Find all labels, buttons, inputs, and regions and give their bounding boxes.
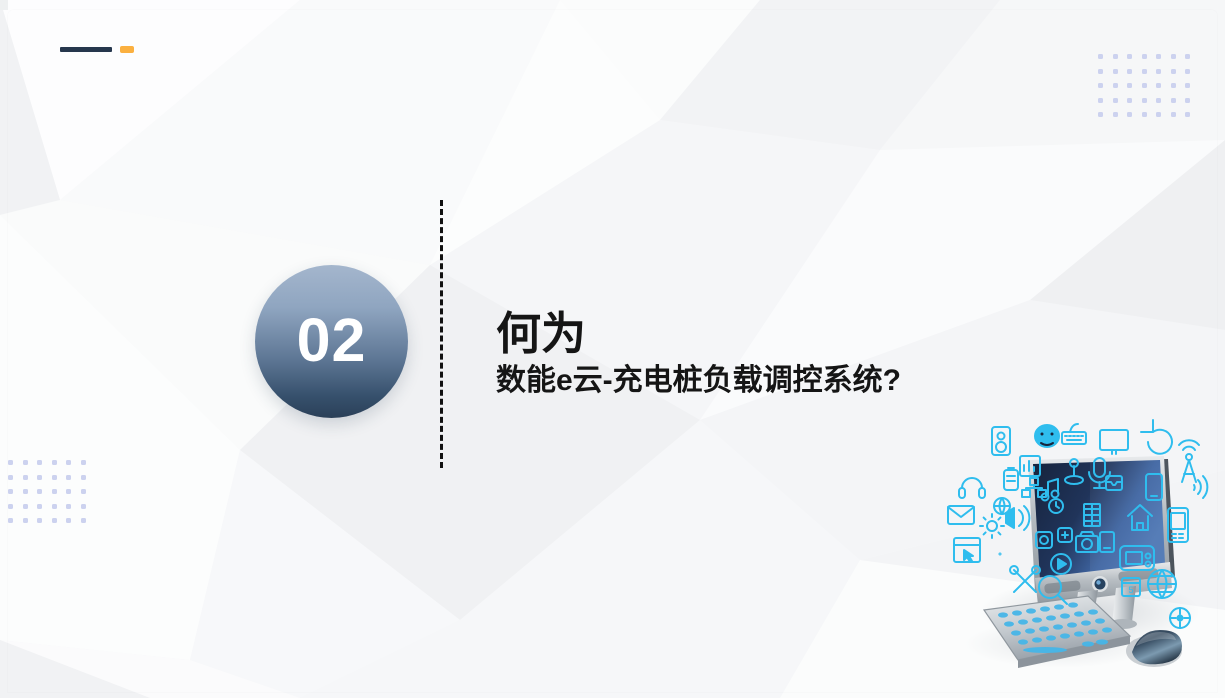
grid-dot	[1171, 98, 1176, 103]
grid-dot	[1171, 112, 1176, 117]
headphones-icon	[959, 478, 985, 498]
film-reel-icon	[1170, 608, 1190, 628]
grid-dot	[52, 475, 57, 480]
speaker-icon	[992, 427, 1010, 455]
gear-icon	[980, 514, 1004, 538]
grid-dot	[8, 489, 13, 494]
refresh-icon	[1141, 420, 1172, 454]
grid-dot	[81, 518, 86, 523]
grid-dot	[37, 460, 42, 465]
section-heading: 何为 数能e云-充电桩负载调控系统?	[496, 310, 901, 397]
grid-dot	[1127, 69, 1132, 74]
grid-dot	[1113, 69, 1118, 74]
grid-dot	[1127, 112, 1132, 117]
wifi-tower-icon	[1179, 440, 1199, 482]
grid-dot	[8, 475, 13, 480]
grid-dot	[52, 460, 57, 465]
grid-dot	[37, 475, 42, 480]
grid-dot	[37, 518, 42, 523]
grid-dot	[1113, 83, 1118, 88]
grid-dot	[1171, 69, 1176, 74]
accent-dot	[120, 46, 134, 53]
envelope-icon	[948, 506, 974, 524]
grid-dot	[66, 518, 71, 523]
section-number-text: 02	[297, 310, 367, 371]
grid-dot	[8, 504, 13, 509]
grid-dot	[1142, 112, 1147, 117]
grid-dot	[1156, 69, 1161, 74]
grid-dot	[1185, 83, 1190, 88]
desktop-computer-illustration: 5	[940, 412, 1225, 698]
grid-dot	[23, 504, 28, 509]
soccer-ball-icon	[1000, 554, 1001, 555]
grid-dot	[1185, 98, 1190, 103]
grid-dot	[1171, 54, 1176, 59]
grid-dot	[81, 504, 86, 509]
grid-dot	[1185, 54, 1190, 59]
grid-dot	[1171, 83, 1176, 88]
grid-dot	[1127, 98, 1132, 103]
monitor-icon	[1100, 430, 1128, 454]
grid-dot	[81, 475, 86, 480]
grid-dot	[23, 489, 28, 494]
grid-dot	[1185, 112, 1190, 117]
svg-text:5: 5	[1128, 585, 1133, 595]
grid-dot	[1156, 98, 1161, 103]
grid-dot	[1142, 69, 1147, 74]
grid-dot	[23, 518, 28, 523]
monitor	[1028, 456, 1175, 605]
grid-dot	[1142, 54, 1147, 59]
grid-dot	[1127, 83, 1132, 88]
decorative-dot-grid-top-right	[1098, 54, 1200, 127]
grid-dot	[81, 489, 86, 494]
grid-dot	[37, 504, 42, 509]
grid-dot	[66, 489, 71, 494]
grid-dot	[23, 475, 28, 480]
grid-dot	[66, 504, 71, 509]
grid-dot	[1098, 98, 1103, 103]
grid-dot	[1098, 83, 1103, 88]
robot-head-icon	[1035, 425, 1059, 447]
grid-dot	[8, 460, 13, 465]
grid-dot	[1142, 83, 1147, 88]
accent-line	[60, 47, 112, 52]
grid-dot	[1185, 69, 1190, 74]
grid-dot	[8, 518, 13, 523]
grid-dot	[1113, 112, 1118, 117]
window-cursor-icon	[954, 538, 980, 562]
dashed-divider	[440, 200, 443, 468]
slide-canvas: 02 何为 数能e云-充电桩负载调控系统?	[0, 0, 1225, 698]
battery-icon	[1004, 468, 1018, 490]
decorative-dot-grid-bottom-left	[8, 460, 95, 533]
grid-dot	[52, 518, 57, 523]
keyboard-icon	[1062, 424, 1086, 444]
grid-dot	[1156, 54, 1161, 59]
grid-dot	[1156, 83, 1161, 88]
section-number-circle: 02	[255, 265, 408, 418]
grid-dot	[1127, 54, 1132, 59]
grid-dot	[52, 504, 57, 509]
heading-line-2: 数能e云-充电桩负载调控系统?	[496, 364, 901, 398]
grid-dot	[1098, 112, 1103, 117]
grid-dot	[23, 460, 28, 465]
grid-dot	[1113, 98, 1118, 103]
grid-dot	[1156, 112, 1161, 117]
grid-dot	[81, 460, 86, 465]
grid-dot	[1098, 69, 1103, 74]
heading-line-1: 何为	[496, 310, 901, 358]
grid-dot	[37, 489, 42, 494]
grid-dot	[1113, 54, 1118, 59]
grid-dot	[1142, 98, 1147, 103]
accent-marker	[60, 46, 134, 53]
grid-dot	[66, 475, 71, 480]
grid-dot	[52, 489, 57, 494]
grid-dot	[1098, 54, 1103, 59]
grid-dot	[66, 460, 71, 465]
